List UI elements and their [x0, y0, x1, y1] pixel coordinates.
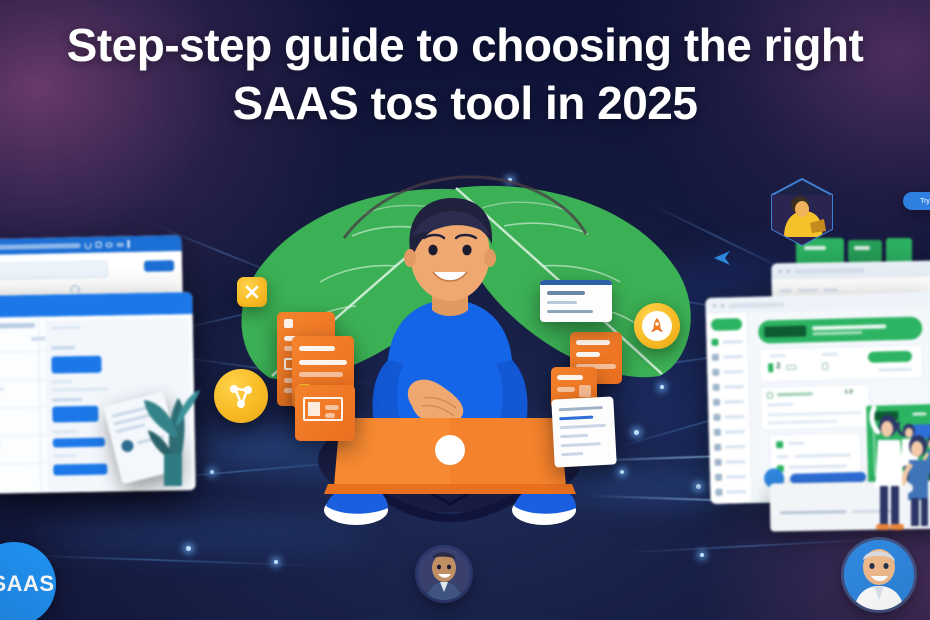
- users-icon: [713, 384, 720, 391]
- yellow-badge-rocket-icon: [634, 303, 680, 349]
- sidebar-item[interactable]: [708, 394, 749, 410]
- cursor-arrow-icon: [712, 248, 734, 268]
- doc-icon: [715, 474, 722, 481]
- cart-icon[interactable]: [96, 242, 102, 248]
- sidebar-item[interactable]: [706, 334, 747, 350]
- chart-icon: [712, 369, 719, 376]
- rocket-icon: [648, 317, 666, 335]
- sidebar[interactable]: [706, 313, 753, 504]
- puzzle-icon: [244, 284, 260, 300]
- hero-illustration-canvas: Step-step guide to choosing the right SA…: [0, 0, 930, 620]
- sidebar-item[interactable]: [710, 469, 751, 485]
- chat-bubble: [52, 406, 98, 423]
- sidebar-item[interactable]: [709, 439, 750, 455]
- title-line-2: SAAS tos tool in 2025: [0, 74, 930, 132]
- phone-icon: [714, 429, 721, 436]
- avatar-person-center[interactable]: [418, 548, 470, 600]
- teal-plant-leaves: [128, 368, 200, 488]
- grid-icon: [711, 339, 718, 346]
- share-nodes-icon: [226, 381, 256, 411]
- orange-card-small-left: [295, 385, 355, 441]
- sidebar-item[interactable]: [709, 454, 750, 470]
- chat-bubble: [51, 356, 101, 374]
- tag-icon: [715, 459, 722, 466]
- calendar-icon: [714, 444, 721, 451]
- avatar-saas-label: SAAS: [0, 571, 55, 597]
- list-icon: [713, 414, 720, 421]
- cta-button[interactable]: [868, 351, 912, 363]
- list-card: 1.0: [760, 384, 871, 431]
- panel-primary-button[interactable]: [144, 260, 174, 272]
- chat-bubble: [53, 464, 107, 476]
- sidebar-item[interactable]: [707, 364, 748, 380]
- chat-bubble: [53, 438, 105, 448]
- try-pill-button[interactable]: Try: [903, 192, 930, 210]
- sidebar-item[interactable]: [710, 484, 751, 500]
- sidebar-item[interactable]: [707, 349, 748, 365]
- page-title: Step-step guide to choosing the right SA…: [0, 16, 930, 132]
- white-card-top-right: [540, 280, 612, 322]
- yellow-badge-settings-icon: [237, 277, 267, 307]
- sidebar-item[interactable]: [708, 409, 749, 425]
- menu-icon[interactable]: [128, 240, 130, 248]
- box-icon: [713, 399, 720, 406]
- stats-card: 2: [759, 344, 924, 382]
- file-icon: [715, 489, 722, 496]
- hexagon-portrait-frame: [766, 175, 838, 251]
- eye-icon[interactable]: [106, 242, 113, 247]
- drop-icon: [712, 354, 719, 361]
- front-people-illustration: [862, 392, 928, 532]
- dots-icon[interactable]: [117, 243, 124, 246]
- sidebar-item[interactable]: [709, 424, 750, 440]
- sidebar-logo-button[interactable]: [711, 318, 742, 331]
- white-card-bottom-right: [551, 396, 616, 467]
- yellow-badge-share-icon: [214, 369, 268, 423]
- title-line-1: Step-step guide to choosing the right: [0, 16, 930, 74]
- avatar-person-right[interactable]: [844, 540, 914, 610]
- sidebar-item[interactable]: [707, 379, 748, 395]
- back-icon[interactable]: [85, 241, 92, 248]
